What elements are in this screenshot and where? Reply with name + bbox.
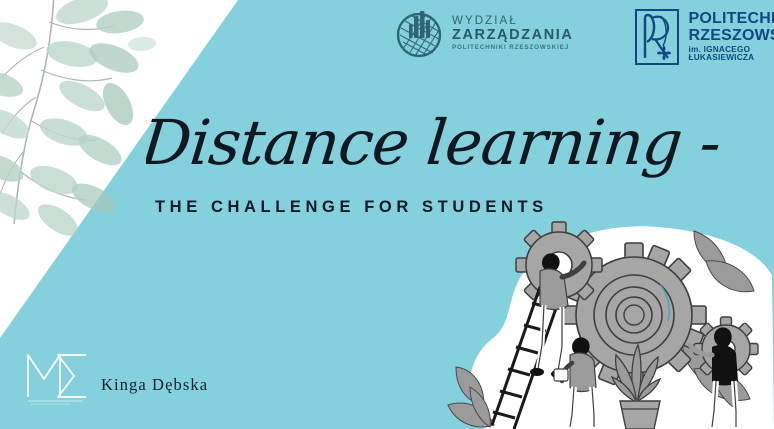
globe-grid-icon	[395, 8, 445, 60]
page-title: Distance learning -	[146, 102, 746, 186]
pr-line3: im. IGNACEGO ŁUKASIEWICZA	[689, 46, 774, 63]
page-subtitle: THE CHALLENGE FOR STUDENTS	[155, 198, 548, 217]
wz-line3: POLITECHNIKI RZESZOWSKIEJ	[452, 45, 574, 52]
pr-monogram-icon	[634, 8, 682, 66]
title-text: Distance learning -	[146, 106, 724, 179]
pr-line2: RZESZOWSKA	[689, 28, 774, 44]
politechnika-rzeszowska-logo: POLITECHNIKA RZESZOWSKA im. IGNACEGO ŁUK…	[634, 8, 774, 66]
header-logos: WYDZIAŁ ZARZĄDZANIA POLITECHNIKI RZESZOW…	[395, 8, 764, 72]
wz-line2: ZARZĄDZANIA	[452, 28, 574, 43]
author-name: Kinga Dębska	[101, 375, 208, 395]
teamwork-gears-illustration	[444, 219, 774, 429]
ms-monogram-logo	[24, 345, 96, 407]
presentation-slide: WYDZIAŁ ZARZĄDZANIA POLITECHNIKI RZESZOW…	[0, 0, 774, 429]
pr-line1: POLITECHNIKA	[689, 11, 774, 27]
wydzial-zarzadzania-logo: WYDZIAŁ ZARZĄDZANIA POLITECHNIKI RZESZOW…	[395, 8, 574, 60]
